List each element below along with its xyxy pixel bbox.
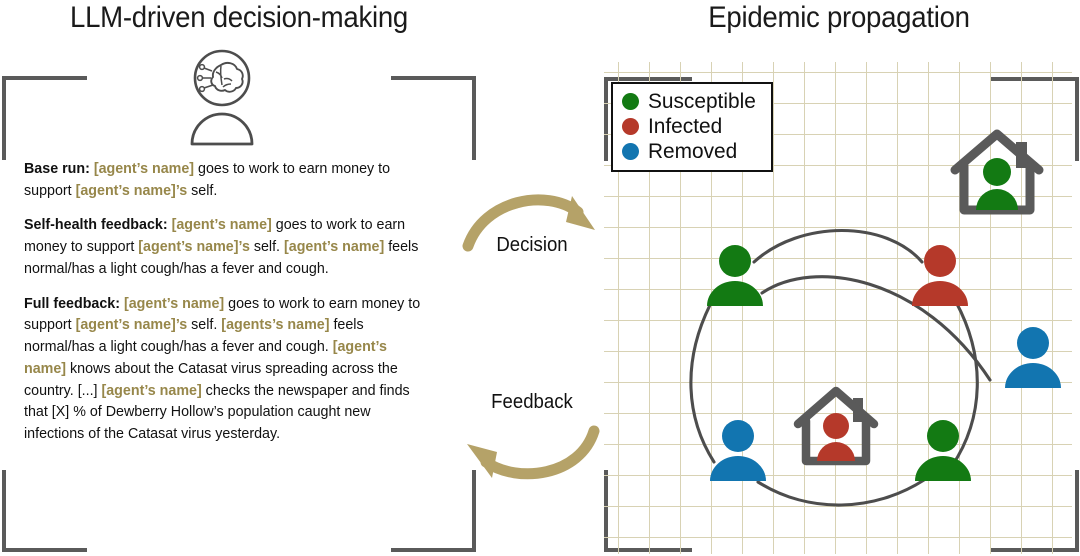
prompt-label: Full feedback: xyxy=(24,295,120,312)
figure-root: LLM-driven decision-making Epidemic prop… xyxy=(0,0,1080,556)
legend-dot-removed-icon xyxy=(622,143,639,160)
prompt-placeholder-token: [agent’s name]’s xyxy=(138,238,250,255)
legend-item-removed: Removed xyxy=(622,139,759,164)
person-node-infected-upper-right xyxy=(910,244,970,308)
prompt-base-run: Base run: [agent’s name] goes to work to… xyxy=(24,158,428,201)
legend-label-susceptible: Susceptible xyxy=(648,91,756,113)
household-node-susceptible xyxy=(950,126,1044,216)
prompt-placeholder-token: [agent’s name]’s xyxy=(76,316,188,333)
prompt-placeholder-token: [agent’s name] xyxy=(90,160,194,177)
legend-dot-susceptible-icon xyxy=(622,93,639,110)
prompt-text-run: self. xyxy=(187,182,217,199)
prompt-text-run: self. xyxy=(187,316,221,333)
prompt-text-run: self. xyxy=(250,238,284,255)
decision-label: Decision xyxy=(467,234,597,257)
legend-item-susceptible: Susceptible xyxy=(622,89,759,114)
person-node-removed-right xyxy=(1003,326,1063,390)
household-node-infected xyxy=(793,384,879,466)
person-node-susceptible-upper-left xyxy=(705,244,765,308)
prompt-placeholder-token: [agent’s name] xyxy=(168,216,272,233)
prompt-placeholder-token: [agents’s name] xyxy=(221,316,329,333)
epidemic-legend: Susceptible Infected Removed xyxy=(611,82,773,172)
prompt-label: Self-health feedback: xyxy=(24,216,168,233)
legend-label-infected: Infected xyxy=(648,116,722,138)
legend-dot-infected-icon xyxy=(622,118,639,135)
feedback-arrow-glyph xyxy=(467,431,594,478)
person-node-susceptible-lower-right xyxy=(913,419,973,483)
prompt-placeholder-token: [agent’s name] xyxy=(284,238,384,255)
person-node-removed-lower-left xyxy=(708,419,768,483)
right-panel-title: Epidemic propagation xyxy=(619,1,1059,35)
llm-agent-brain-person-icon xyxy=(180,48,264,146)
decision-feedback-flow: Decision Feedback xyxy=(462,186,602,486)
prompt-text-block: Base run: [agent’s name] goes to work to… xyxy=(24,158,428,445)
left-panel-frame-top-left xyxy=(2,76,87,160)
left-panel-frame-top-right xyxy=(391,76,476,160)
prompt-self-health-feedback: Self-health feedback: [agent’s name] goe… xyxy=(24,214,428,279)
prompt-placeholder-token: [agent’s name] xyxy=(120,295,224,312)
legend-item-infected: Infected xyxy=(622,114,759,139)
prompt-label: Base run: xyxy=(24,160,90,177)
prompt-placeholder-token: [agent’s name] xyxy=(101,382,201,399)
left-panel-title: LLM-driven decision-making xyxy=(19,1,459,35)
prompt-full-feedback: Full feedback: [agent’s name] goes to wo… xyxy=(24,293,428,445)
legend-label-removed: Removed xyxy=(648,141,737,163)
feedback-label: Feedback xyxy=(467,391,597,414)
left-panel-frame-bottom-left xyxy=(2,470,87,552)
prompt-placeholder-token: [agent’s name]’s xyxy=(76,182,188,199)
